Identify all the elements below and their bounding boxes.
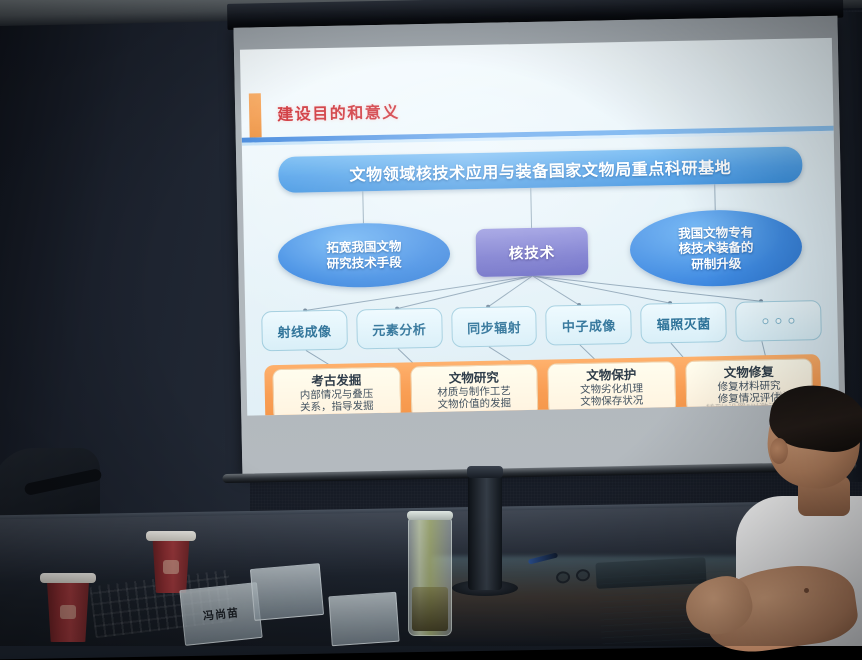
tech-box-ellipsis (735, 300, 822, 342)
application-title: 文物修复 (724, 365, 774, 381)
conference-room: 建设目的和意义 文物领域核技术应用与装备国家文物局重点科研基地 (0, 0, 862, 646)
tea-leaves (412, 587, 448, 631)
ear (770, 438, 788, 464)
goal-right-line1: 我国文物专有 (678, 224, 753, 241)
paper-coffee-cup (150, 538, 192, 593)
application-line: 文物保存状况 (580, 395, 643, 409)
seated-attendee (740, 392, 862, 646)
technology-row: 射线成像 元素分析 同步辐射 中子成像 辐照灭菌 (261, 300, 822, 351)
slide-section-title: 建设目的和意义 (277, 99, 400, 125)
goal-left-line2: 研究技术手段 (327, 255, 402, 272)
application-title: 文物保护 (586, 368, 636, 384)
ellipsis-dot (775, 318, 781, 324)
cup-logo (60, 605, 76, 619)
title-accent-bar (249, 93, 262, 137)
tech-box: 中子成像 (546, 304, 633, 346)
application-line: 关系，指导发掘 (300, 400, 374, 414)
tumbler-lid (407, 511, 453, 520)
placard-name: 冯尚苗 (202, 604, 239, 624)
goal-right-line3: 研制升级 (691, 256, 741, 273)
tech-box: 元素分析 (356, 308, 443, 350)
goal-node-left: 拓宽我国文物 研究技术手段 (277, 222, 450, 289)
placard-plate (250, 563, 324, 621)
application-card: 考古发掘 内部情况与叠压 关系，指导发掘 (272, 367, 401, 416)
name-placard: 冯尚苗 (179, 582, 262, 646)
application-card: 文物保护 文物劣化机理 文物保存状况 (547, 361, 676, 416)
tech-box: 同步辐射 (451, 306, 538, 348)
tech-box: 辐照灭菌 (640, 302, 727, 344)
application-title: 考古发掘 (311, 373, 361, 389)
cup-logo (163, 560, 179, 574)
application-title: 文物研究 (449, 371, 499, 387)
application-line: 文物价值的发掘 (437, 398, 511, 412)
lens-right (575, 569, 590, 582)
placard-plate (328, 592, 399, 647)
thermos-cap (467, 466, 503, 478)
goal-right-line2: 核技术装备的 (678, 240, 753, 257)
presentation-slide: 建设目的和意义 文物领域核技术应用与装备国家文物局重点科研基地 (240, 38, 839, 416)
goal-node-right: 我国文物专有 核技术装备的 研制升级 (629, 208, 802, 287)
black-thermos (468, 470, 502, 590)
placard-plate: 冯尚苗 (179, 582, 262, 646)
name-placard (328, 592, 399, 647)
name-placard (250, 563, 324, 621)
core-technology-node: 核技术 (476, 227, 589, 277)
mole (804, 588, 809, 593)
cup-lid (146, 531, 196, 541)
ellipsis-dot (788, 318, 794, 324)
cup-lid (40, 573, 96, 583)
tech-box: 射线成像 (261, 310, 348, 352)
lens-left (555, 571, 570, 584)
goal-left-line1: 拓宽我国文物 (326, 239, 401, 256)
diagram-header-node: 文物领域核技术应用与装备国家文物局重点科研基地 (278, 146, 803, 193)
ellipsis-dot (762, 318, 768, 324)
application-card: 文物研究 材质与制作工艺 文物价值的发掘 (410, 364, 539, 416)
paper-coffee-cup (44, 580, 92, 642)
glass-tea-tumbler (408, 516, 452, 636)
